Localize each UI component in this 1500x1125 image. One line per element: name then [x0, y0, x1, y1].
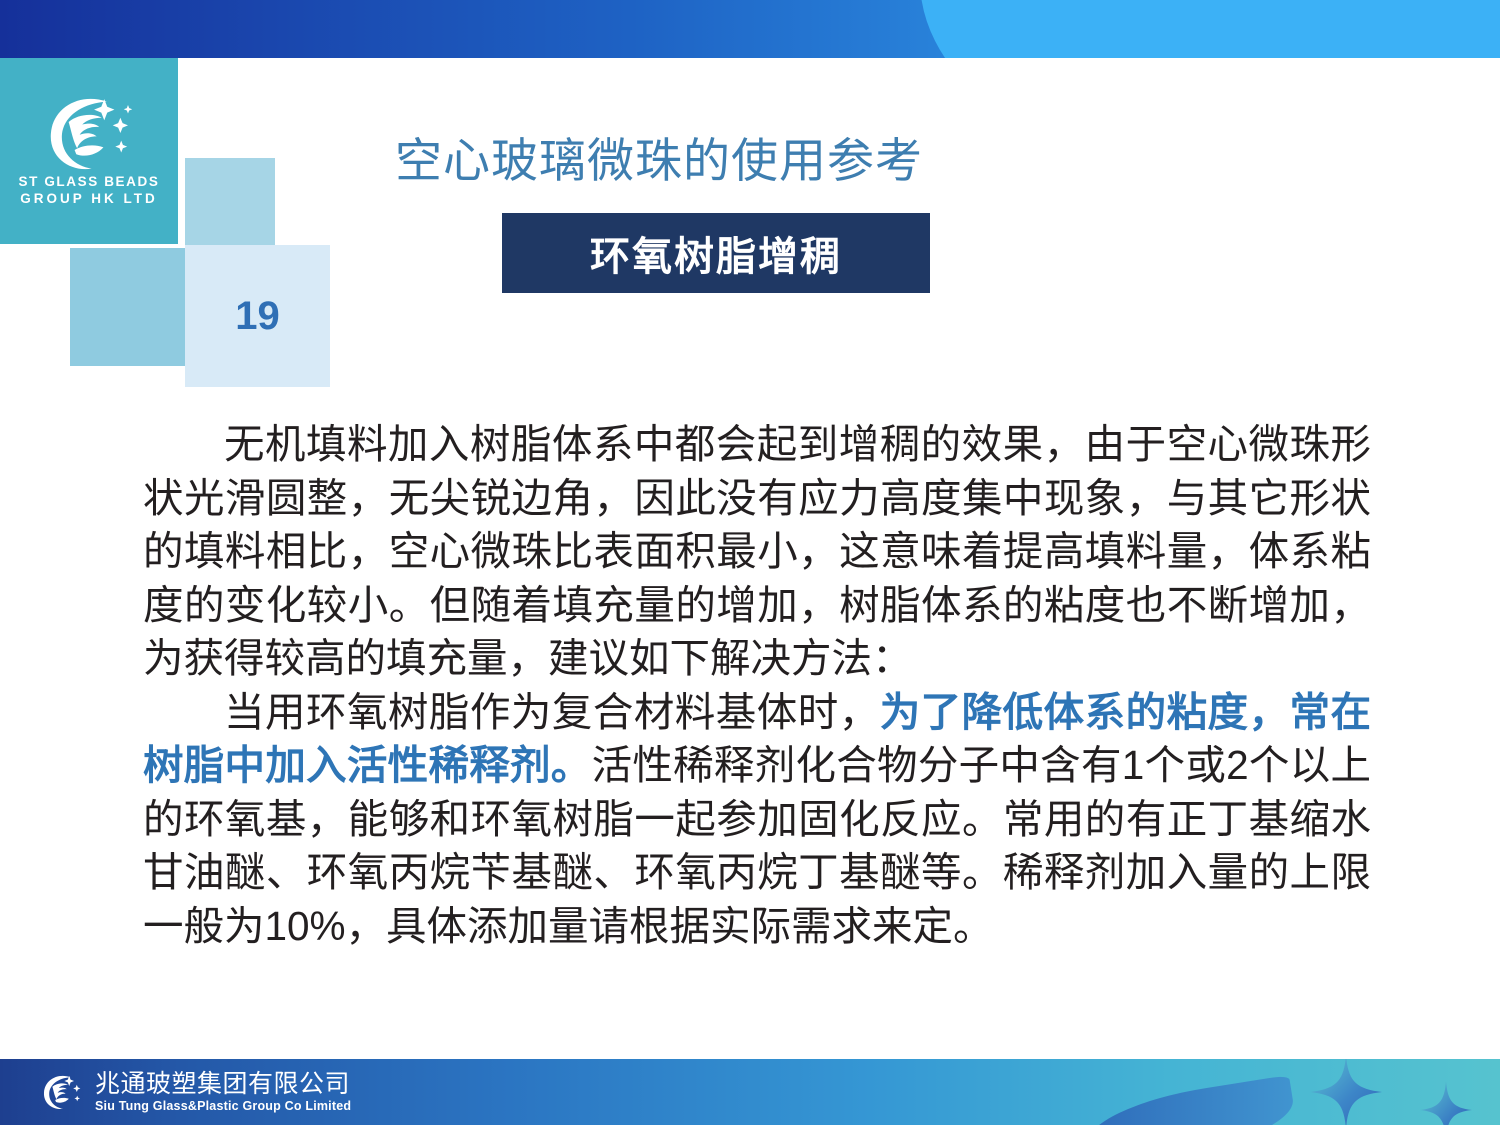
page-number: 19 [185, 245, 330, 387]
body-paragraph-2-part1: 当用环氧树脂作为复合材料基体时， [224, 689, 880, 735]
footer-company-name-cn: 兆通玻塑集团有限公司 [95, 1071, 351, 1098]
footer-brand: 兆通玻塑集团有限公司 Siu Tung Glass&Plastic Group … [40, 1059, 351, 1125]
slide-footer: 兆通玻塑集团有限公司 Siu Tung Glass&Plastic Group … [0, 1059, 1500, 1125]
top-decorative-band [0, 0, 1500, 58]
footer-swoosh-decoration [1081, 1075, 1298, 1125]
body-paragraph-2: 当用环氧树脂作为复合材料基体时，为了降低体系的粘度，常在树脂中加入活性稀释剂。活… [143, 686, 1371, 954]
subtitle-badge-label: 环氧树脂增稠 [590, 224, 842, 282]
brand-logo-block: ST GLASS BEADS GROUP HK LTD [0, 58, 178, 244]
top-wave-shape-front [920, 0, 1500, 58]
brand-logo-line1: ST GLASS BEADS [19, 174, 160, 191]
footer-company-name-en: Siu Tung Glass&Plastic Group Co Limited [95, 1099, 351, 1113]
slide-title: 空心玻璃微珠的使用参考 [395, 122, 1095, 191]
footer-company-names: 兆通玻塑集团有限公司 Siu Tung Glass&Plastic Group … [95, 1071, 351, 1113]
subtitle-badge: 环氧树脂增稠 [502, 213, 930, 293]
crescent-sparkle-logo-icon [41, 94, 137, 172]
decorative-square-upper [185, 158, 275, 248]
footer-sparkle-icon-small [1420, 1081, 1472, 1125]
slide-body: 无机填料加入树脂体系中都会起到增稠的效果，由于空心微珠形状光滑圆整，无尖锐边角，… [143, 418, 1371, 953]
crescent-sparkle-logo-icon [40, 1070, 84, 1114]
brand-logo-wordmark: ST GLASS BEADS GROUP HK LTD [19, 174, 160, 208]
body-paragraph-1: 无机填料加入树脂体系中都会起到增稠的效果，由于空心微珠形状光滑圆整，无尖锐边角，… [143, 418, 1371, 686]
decorative-square-left [70, 248, 188, 366]
brand-logo-line2: GROUP HK LTD [19, 191, 160, 208]
footer-sparkle-icon-large [1310, 1059, 1382, 1125]
